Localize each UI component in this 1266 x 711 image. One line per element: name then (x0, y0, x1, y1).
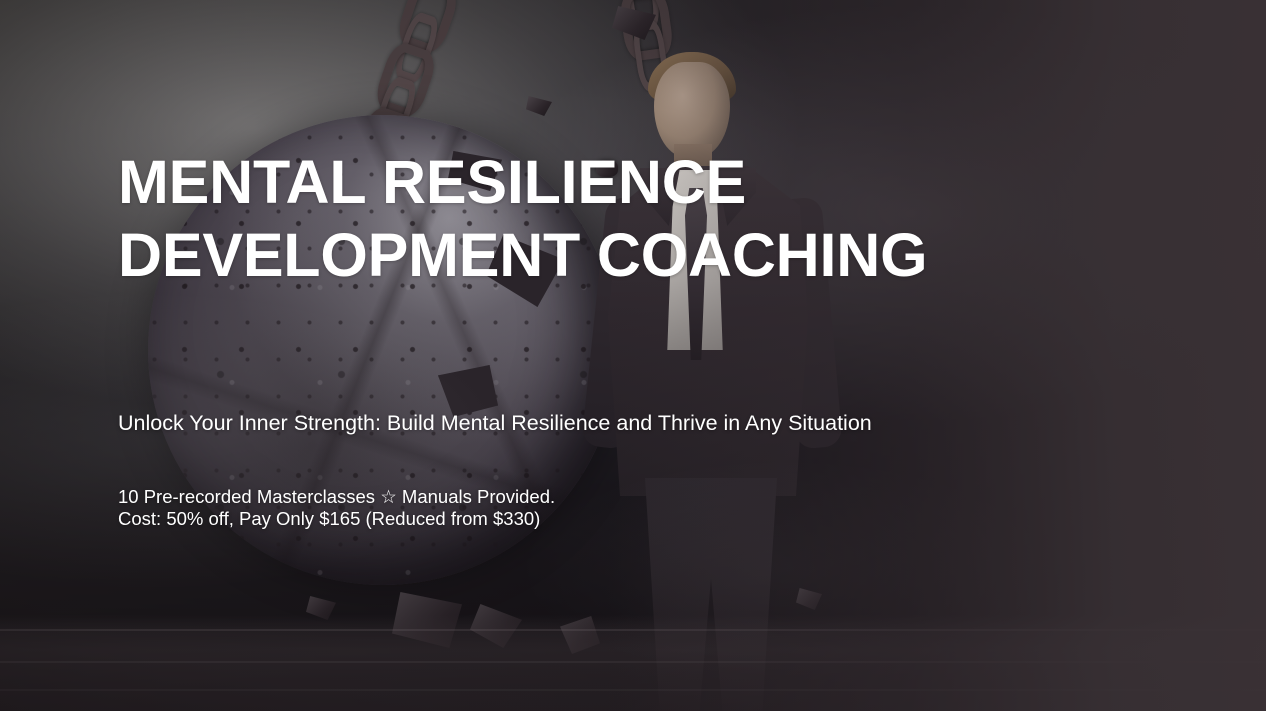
slide-body-text: 10 Pre-recorded Masterclasses ☆ Manuals … (118, 486, 758, 529)
presentation-slide: MENTAL RESILIENCE DEVELOPMENT COACHING U… (0, 0, 1266, 711)
slide-subtitle: Unlock Your Inner Strength: Build Mental… (118, 409, 938, 437)
slide-title: MENTAL RESILIENCE DEVELOPMENT COACHING (118, 146, 1048, 292)
body-line-offer: 10 Pre-recorded Masterclasses ☆ Manuals … (118, 486, 758, 508)
slide-text-content: MENTAL RESILIENCE DEVELOPMENT COACHING U… (118, 0, 1078, 711)
body-line-price: Cost: 50% off, Pay Only $165 (Reduced fr… (118, 508, 758, 530)
